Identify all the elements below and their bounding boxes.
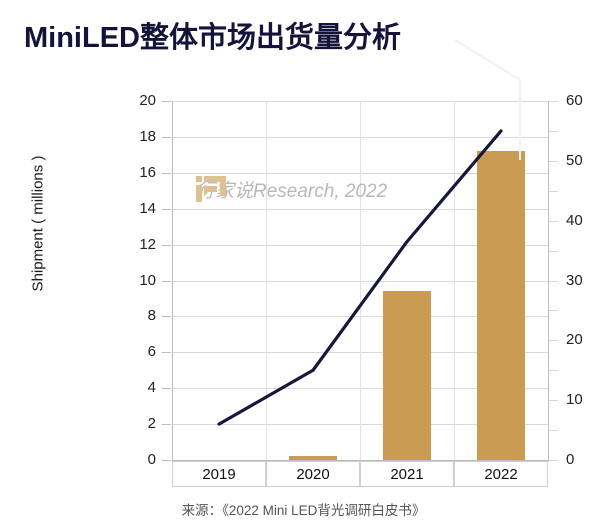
decorative-watermark-line [455, 40, 520, 160]
line-series-layer [0, 0, 607, 529]
chart-container: MiniLED整体市场出货量分析 Shipment ( millions ) 0… [0, 0, 607, 529]
growth-line [219, 131, 501, 424]
